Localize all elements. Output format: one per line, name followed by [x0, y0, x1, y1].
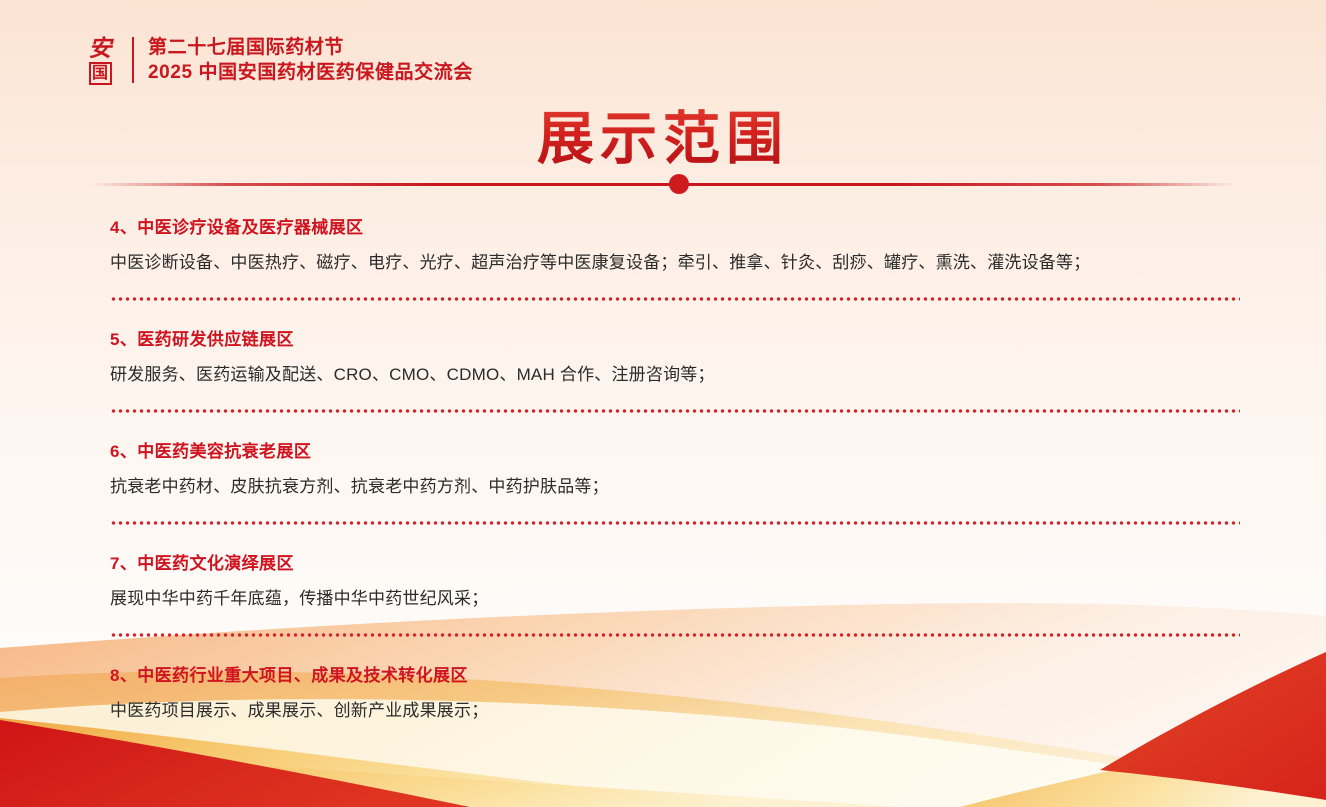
section-heading: 8、中医药行业重大项目、成果及技术转化展区: [110, 656, 1240, 688]
exhibition-scope-list: 4、中医诊疗设备及医疗器械展区 中医诊断设备、中医热疗、磁疗、电疗、光疗、超声治…: [110, 208, 1240, 749]
brand-line-1: 第二十七届国际药材节: [148, 37, 473, 58]
page-title-block: 展示范围: [0, 104, 1326, 174]
section-body: 抗衰老中药材、皮肤抗衰方剂、抗衰老中药方剂、中药护肤品等；: [110, 474, 1240, 500]
brand-title-block: 第二十七届国际药材节 2025 中国安国药材医药保健品交流会: [148, 37, 473, 83]
section-divider: [110, 409, 1240, 413]
anguo-logo-icon: 安 国: [78, 32, 122, 88]
list-item: 4、中医诊疗设备及医疗器械展区 中医诊断设备、中医热疗、磁疗、电疗、光疗、超声治…: [110, 208, 1240, 301]
list-item: 8、中医药行业重大项目、成果及技术转化展区 中医药项目展示、成果展示、创新产业成…: [110, 656, 1240, 749]
logo-divider: [132, 37, 134, 83]
list-item: 7、中医药文化演绎展区 展现中华中药千年底蕴，传播中华中药世纪风采；: [110, 544, 1240, 637]
title-center-dot: [669, 174, 689, 194]
section-body: 研发服务、医药运输及配送、CRO、CMO、CDMO、MAH 合作、注册咨询等；: [110, 362, 1240, 388]
section-body: 中医诊断设备、中医热疗、磁疗、电疗、光疗、超声治疗等中医康复设备；牵引、推拿、针…: [110, 250, 1240, 276]
page-title: 展示范围: [537, 104, 789, 174]
section-divider: [110, 297, 1240, 301]
brand-line-2: 2025 中国安国药材医药保健品交流会: [148, 62, 473, 83]
list-item: 5、医药研发供应链展区 研发服务、医药运输及配送、CRO、CMO、CDMO、MA…: [110, 320, 1240, 413]
slide-canvas: 安 国 第二十七届国际药材节 2025 中国安国药材医药保健品交流会 展示范围 …: [0, 0, 1326, 807]
logo-char-guo: 国: [89, 62, 112, 85]
section-heading: 6、中医药美容抗衰老展区: [110, 432, 1240, 464]
section-heading: 5、医药研发供应链展区: [110, 320, 1240, 352]
brand-header: 安 国 第二十七届国际药材节 2025 中国安国药材医药保健品交流会: [78, 31, 473, 89]
section-heading: 7、中医药文化演绎展区: [110, 544, 1240, 576]
section-divider: [110, 633, 1240, 637]
section-body: 中医药项目展示、成果展示、创新产业成果展示；: [110, 698, 1240, 724]
section-body: 展现中华中药千年底蕴，传播中华中药世纪风采；: [110, 586, 1240, 612]
section-heading: 4、中医诊疗设备及医疗器械展区: [110, 208, 1240, 240]
title-underline-rule: [90, 183, 1236, 186]
logo-char-an: 安: [89, 36, 112, 61]
list-item: 6、中医药美容抗衰老展区 抗衰老中药材、皮肤抗衰方剂、抗衰老中药方剂、中药护肤品…: [110, 432, 1240, 525]
section-divider: [110, 521, 1240, 525]
